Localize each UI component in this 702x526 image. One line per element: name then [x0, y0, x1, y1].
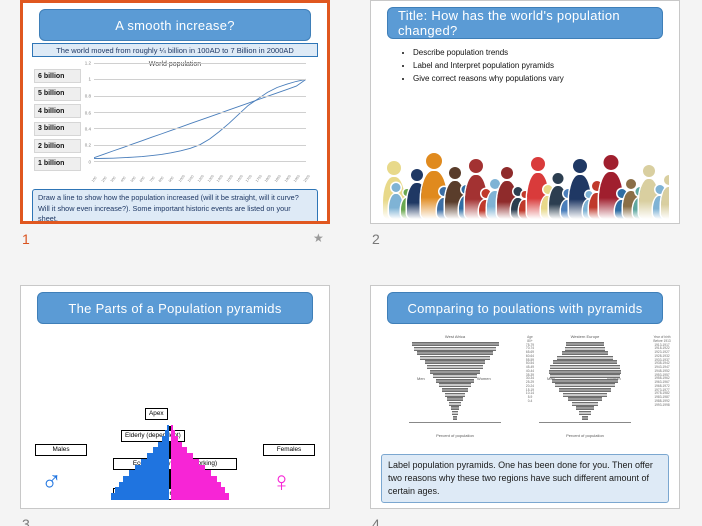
year-of-birth-column: Year of birthBefore 19131913-19171918-19…	[647, 336, 677, 408]
figure-head	[469, 159, 483, 173]
figure-head	[604, 155, 619, 170]
slide-2-meta: 2	[370, 228, 680, 250]
slide-number-2: 2	[372, 230, 380, 248]
mini-pyramid-bar	[549, 370, 585, 374]
mini-pyramid-bar	[585, 393, 607, 397]
mini-pyramid-bar	[550, 374, 585, 378]
figure-head	[664, 175, 669, 185]
mini-pyramid-bar	[455, 379, 474, 383]
slide-number-4: 4	[372, 515, 380, 526]
chart-y-tick-label: 1	[88, 77, 91, 82]
age-label: 0-4	[519, 400, 541, 404]
mini-pyramid-bar	[455, 402, 461, 406]
mini-pyramid-bar	[414, 347, 455, 351]
slide-2-title: Title: How has the world's population ch…	[387, 7, 663, 39]
pyramid-xlabel-1: Percent of population	[436, 433, 474, 438]
mini-pyramid-bar	[412, 342, 456, 346]
slide-cell-4[interactable]: Comparing to poulations with pyramids We…	[370, 285, 680, 526]
slide-sorter-grid: A smooth increase? The world moved from …	[0, 0, 702, 526]
figure-body	[661, 187, 669, 219]
mini-pyramid-bar	[585, 383, 615, 387]
chart-y-tick-label: 0	[88, 160, 91, 165]
mini-pyramid-bar	[555, 383, 585, 387]
population-pyramid-diagram: Apex Elderly (dependent) Economically ac…	[21, 336, 329, 504]
chart-x-tick-label: 100	[91, 176, 98, 183]
mini-pyramid-bar	[455, 416, 457, 420]
chart-x-tick-label: 1700	[245, 174, 253, 183]
chart-x-tick-label: 800	[158, 176, 165, 183]
slide-4-meta: 4	[370, 513, 680, 526]
mini-pyramid-axis	[539, 422, 631, 423]
slide-number-3: 3	[22, 515, 30, 526]
mini-pyramid-bar	[572, 402, 585, 406]
chart-x-tick-label: 2000	[303, 174, 311, 183]
mini-pyramid-bar	[568, 397, 585, 401]
slide-3-title: The Parts of a Population pyramids	[37, 292, 313, 324]
mini-pyramid-bar	[553, 360, 585, 364]
mini-pyramid-bar	[439, 383, 455, 387]
chart-y-tick-label: 0.4	[85, 126, 91, 131]
mini-pyramid-bar	[559, 388, 585, 392]
y-axis-annotation-box: 3 billion	[34, 122, 81, 136]
mini-pyramid-bar	[557, 356, 585, 360]
slide-1-banner-text: The world moved from roughly ¼ billion i…	[32, 43, 318, 57]
mini-pyramid-bar	[552, 379, 585, 383]
chart-x-tick-label: 200	[100, 176, 107, 183]
figure-head	[573, 159, 587, 173]
chart-x-tick-label: 1000	[178, 174, 186, 183]
mini-pyramid-bar	[585, 370, 621, 374]
chart-x-tick-label: 1850	[274, 174, 282, 183]
mini-pyramid-bar	[585, 365, 620, 369]
mini-pyramid-bar	[585, 406, 594, 410]
y-axis-annotation-box: 2 billion	[34, 139, 81, 153]
chart-x-tick-label: 1500	[226, 174, 234, 183]
mini-pyramid-axis	[409, 422, 501, 423]
chart-y-tick-label: 0.6	[85, 110, 91, 115]
pyramid-region-label-west-africa: West Africa	[445, 334, 465, 339]
mini-pyramid-bar	[455, 383, 471, 387]
chart-y-tick-label: 0.8	[85, 93, 91, 98]
slide-1-instruction-note: Draw a line to show how the population i…	[32, 189, 318, 224]
mini-pyramid-bar	[455, 411, 458, 415]
y-axis-annotation-box: 6 billion	[34, 69, 81, 83]
year-label: 1993-1998	[647, 404, 677, 408]
mini-pyramid-bar	[427, 365, 455, 369]
mini-pyramid-bar	[455, 351, 493, 355]
chart-gridline: 0	[94, 161, 306, 162]
slide-cell-1[interactable]: A smooth increase? The world moved from …	[20, 0, 330, 228]
mini-pyramid-bar	[455, 365, 483, 369]
slide-thumbnail-3[interactable]: The Parts of a Population pyramids Apex …	[20, 285, 330, 509]
mini-pyramid-bar	[442, 388, 455, 392]
chart-y-tick-label: 0.2	[85, 143, 91, 148]
chart-x-tick-label: 900	[168, 176, 175, 183]
chart-x-tick-label: 1300	[206, 174, 214, 183]
chart-x-tick-label: 1600	[235, 174, 243, 183]
mini-pyramid-bar	[565, 347, 585, 351]
chart-gridline: 1	[94, 79, 306, 80]
slide-1-title: A smooth increase?	[39, 9, 311, 41]
chart-y-tick-label: 1.2	[85, 61, 91, 66]
mini-pyramid-bar	[585, 397, 602, 401]
mini-pyramid-bar	[585, 342, 604, 346]
crowd-person-figure	[661, 175, 669, 219]
male-symbol-icon: ♂	[41, 468, 62, 496]
bullet-item: Give correct reasons why populations var…	[413, 73, 564, 86]
label-apex: Apex	[145, 408, 168, 420]
mini-pyramid-bar	[585, 416, 588, 420]
chart-x-tick-label: 1400	[216, 174, 224, 183]
mini-pyramid-bar	[585, 379, 618, 383]
chart-x-tick-label: 600	[139, 176, 146, 183]
y-axis-annotation-box: 1 billion	[34, 157, 81, 171]
mini-pyramid-bar	[585, 360, 617, 364]
chart-x-tick-label: 1100	[187, 174, 195, 183]
mini-pyramid-bar	[585, 388, 611, 392]
mini-pyramid-bar	[455, 406, 459, 410]
female-symbol-icon: ♀	[271, 468, 292, 496]
star-icon[interactable]: ★	[313, 233, 324, 244]
comparison-pyramids-image: West Africa Men Women Percent of populat…	[389, 332, 661, 446]
mini-pyramid-bar	[455, 374, 477, 378]
figure-head	[531, 157, 545, 171]
pyramid-region-label-western-europe: Western Europe	[571, 334, 600, 339]
mini-pyramid-bar	[455, 388, 468, 392]
mini-pyramid-bar	[585, 402, 598, 406]
mini-pyramid-bar	[585, 411, 591, 415]
mini-pyramid-bar	[550, 365, 585, 369]
mini-pyramid-bar	[585, 374, 620, 378]
slide-4-title: Comparing to poulations with pyramids	[387, 292, 663, 324]
chart-x-tick-label: 1800	[264, 174, 272, 183]
figure-head	[392, 183, 401, 192]
mini-pyramid-bar	[585, 347, 605, 351]
chart-x-tick-label: 400	[120, 176, 127, 183]
mini-pyramid-bar	[447, 397, 455, 401]
pyramid-women-label-1: Women	[477, 376, 491, 381]
pyramid-men-label-1: Men	[417, 376, 425, 381]
slide-thumbnail-4[interactable]: Comparing to poulations with pyramids We…	[370, 285, 680, 509]
chart-series-line	[94, 79, 306, 157]
mini-pyramid-bar	[455, 397, 463, 401]
chart-x-tick-label: 1950	[293, 174, 301, 183]
mini-pyramid-bar	[436, 379, 455, 383]
chart-x-axis-ticks: 1002003004005006007008009001000110012001…	[94, 163, 306, 183]
chart-gridline: 1.2	[94, 63, 306, 64]
mini-pyramid-bar	[562, 351, 585, 355]
slide-4-instruction-note: Label population pyramids. One has been …	[381, 454, 669, 503]
bullet-item: Describe population trends	[413, 47, 564, 60]
chart-x-tick-label: 300	[110, 176, 117, 183]
pyramid-bar-female	[171, 425, 173, 432]
chart-x-tick-label: 1200	[197, 174, 205, 183]
mini-pyramid-bar	[585, 356, 613, 360]
slide-3-meta: 3	[20, 513, 330, 526]
chart-plot-area: 00.20.40.60.811.2	[94, 63, 306, 161]
mini-pyramid-bar	[455, 370, 480, 374]
figure-head	[449, 167, 461, 179]
figure-head	[387, 161, 401, 175]
chart-gridline: 0.8	[94, 96, 306, 97]
mini-pyramid-bar	[455, 356, 490, 360]
bullet-item: Label and Interpret population pyramids	[413, 60, 564, 73]
figure-head	[426, 153, 442, 169]
mini-pyramid-bar	[455, 347, 496, 351]
chart-x-tick-label: 1750	[255, 174, 263, 183]
chart-x-tick-label: 500	[129, 176, 136, 183]
age-column: Age80+75-7970-7465-6960-6455-5950-5445-4…	[519, 336, 541, 404]
slide-cell-2[interactable]: Title: How has the world's population ch…	[370, 0, 680, 228]
pyramid-xlabel-2: Percent of population	[566, 433, 604, 438]
mini-pyramid-bar	[420, 356, 455, 360]
figure-head	[501, 167, 513, 179]
label-females: Females	[263, 444, 315, 456]
mini-pyramid-bar	[430, 370, 455, 374]
figure-head	[643, 165, 655, 177]
mini-pyramid-bar	[455, 342, 499, 346]
mini-pyramid-bar	[585, 351, 608, 355]
label-males: Males	[35, 444, 87, 456]
slide-cell-3[interactable]: The Parts of a Population pyramids Apex …	[20, 285, 330, 526]
mini-pyramid-bar	[417, 351, 455, 355]
chart-x-tick-label: 700	[149, 176, 156, 183]
mini-pyramid-bar	[433, 374, 455, 378]
mini-pyramid-bar	[455, 360, 485, 364]
mini-pyramid-bar	[576, 406, 585, 410]
chart-x-tick-label: 1900	[284, 174, 292, 183]
world-population-chart: World population 00.20.40.60.811.2 10020…	[32, 59, 318, 185]
chart-gridline: 0.6	[94, 112, 306, 113]
mini-pyramid-bar	[566, 342, 585, 346]
pyramid-bar-male	[167, 425, 169, 432]
figure-head	[553, 173, 564, 184]
mini-pyramid-bar	[425, 360, 455, 364]
crowd-of-people-image	[381, 97, 669, 219]
mini-pyramid-bar	[445, 393, 455, 397]
chart-gridline: 0.2	[94, 145, 306, 146]
slide-number-1: 1	[22, 230, 30, 248]
chart-gridline: 0.4	[94, 128, 306, 129]
slide-1-meta: 1 ★	[20, 228, 330, 250]
mini-pyramid-bar	[455, 393, 465, 397]
slide-2-bullet-list: Describe population trends Label and Int…	[401, 47, 564, 86]
mini-pyramid-bar	[563, 393, 585, 397]
y-axis-annotation-box: 5 billion	[34, 87, 81, 101]
slide-thumbnail-1[interactable]: A smooth increase? The world moved from …	[20, 0, 330, 224]
slide-thumbnail-2[interactable]: Title: How has the world's population ch…	[370, 0, 680, 224]
y-axis-annotation-box: 4 billion	[34, 104, 81, 118]
